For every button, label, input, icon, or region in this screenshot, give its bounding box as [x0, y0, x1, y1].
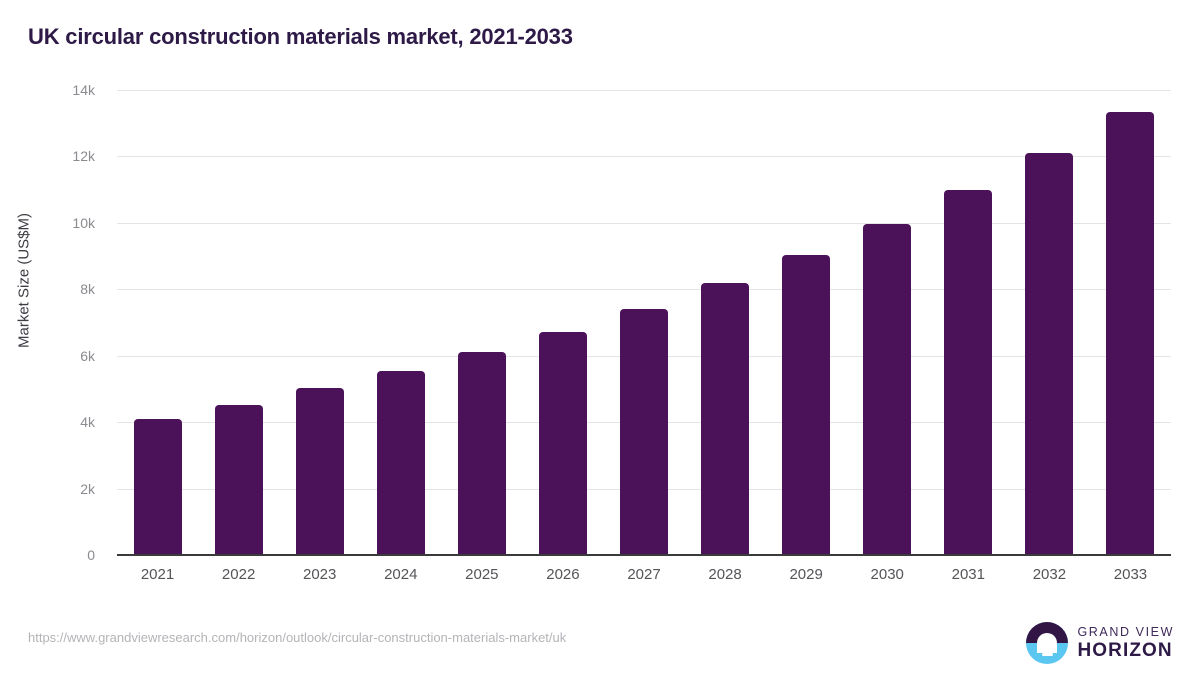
- bar-2026[interactable]: [539, 332, 587, 555]
- logo-mark-bar-upper: [1038, 648, 1056, 651]
- bar-group-2028[interactable]: [701, 90, 749, 555]
- bar-2027[interactable]: [620, 309, 668, 555]
- x-tick-label-2031: 2031: [928, 566, 1008, 583]
- y-tick-label: 0: [0, 547, 105, 563]
- page-title: UK circular construction materials marke…: [28, 24, 573, 50]
- bar-group-2027[interactable]: [620, 90, 668, 555]
- x-axis-line: [117, 554, 1171, 556]
- y-axis-labels: 02k4k6k8k10k12k14k: [0, 0, 105, 675]
- bar-group-2022[interactable]: [215, 90, 263, 555]
- horizon-sun-icon: [1026, 622, 1068, 664]
- bar-2032[interactable]: [1025, 153, 1073, 555]
- logo-line-horizon: HORIZON: [1077, 641, 1174, 660]
- x-tick-label-2028: 2028: [685, 566, 765, 583]
- chart-plot-area: [117, 90, 1171, 555]
- x-tick-label-2027: 2027: [604, 566, 684, 583]
- x-tick-label-2021: 2021: [118, 566, 198, 583]
- bar-group-2029[interactable]: [782, 90, 830, 555]
- logo-wordmark: GRAND VIEW HORIZON: [1077, 626, 1174, 661]
- y-tick-label: 10k: [0, 215, 105, 231]
- y-tick-label: 2k: [0, 481, 105, 497]
- bar-2028[interactable]: [701, 283, 749, 555]
- x-tick-label-2022: 2022: [199, 566, 279, 583]
- x-tick-label-2024: 2024: [361, 566, 441, 583]
- y-tick-label: 12k: [0, 148, 105, 164]
- bar-group-2033[interactable]: [1106, 90, 1154, 555]
- y-tick-label: 6k: [0, 348, 105, 364]
- bar-2029[interactable]: [782, 255, 830, 555]
- bar-2024[interactable]: [377, 371, 425, 555]
- bar-group-2030[interactable]: [863, 90, 911, 555]
- y-tick-label: 4k: [0, 414, 105, 430]
- bar-2021[interactable]: [134, 419, 182, 555]
- bar-2023[interactable]: [296, 388, 344, 555]
- bar-group-2024[interactable]: [377, 90, 425, 555]
- bar-group-2031[interactable]: [944, 90, 992, 555]
- logo-line-grand-view: GRAND VIEW: [1077, 626, 1174, 639]
- y-tick-label: 8k: [0, 281, 105, 297]
- x-tick-label-2033: 2033: [1090, 566, 1170, 583]
- bar-2022[interactable]: [215, 405, 263, 555]
- bar-group-2021[interactable]: [134, 90, 182, 555]
- bar-2030[interactable]: [863, 224, 911, 555]
- x-tick-label-2032: 2032: [1009, 566, 1089, 583]
- bar-group-2026[interactable]: [539, 90, 587, 555]
- logo-mark-bar-lower: [1042, 653, 1053, 656]
- x-tick-label-2030: 2030: [847, 566, 927, 583]
- x-tick-label-2025: 2025: [442, 566, 522, 583]
- bar-group-2023[interactable]: [296, 90, 344, 555]
- bar-2031[interactable]: [944, 190, 992, 555]
- bar-group-2025[interactable]: [458, 90, 506, 555]
- x-tick-label-2029: 2029: [766, 566, 846, 583]
- grand-view-horizon-logo: GRAND VIEW HORIZON: [1026, 620, 1174, 666]
- bar-2033[interactable]: [1106, 112, 1154, 555]
- bar-group-2032[interactable]: [1025, 90, 1073, 555]
- y-tick-label: 14k: [0, 82, 105, 98]
- x-axis-labels: 2021202220232024202520262027202820292030…: [117, 566, 1171, 596]
- source-url[interactable]: https://www.grandviewresearch.com/horizo…: [28, 630, 566, 645]
- x-tick-label-2023: 2023: [280, 566, 360, 583]
- x-tick-label-2026: 2026: [523, 566, 603, 583]
- bar-2025[interactable]: [458, 352, 506, 555]
